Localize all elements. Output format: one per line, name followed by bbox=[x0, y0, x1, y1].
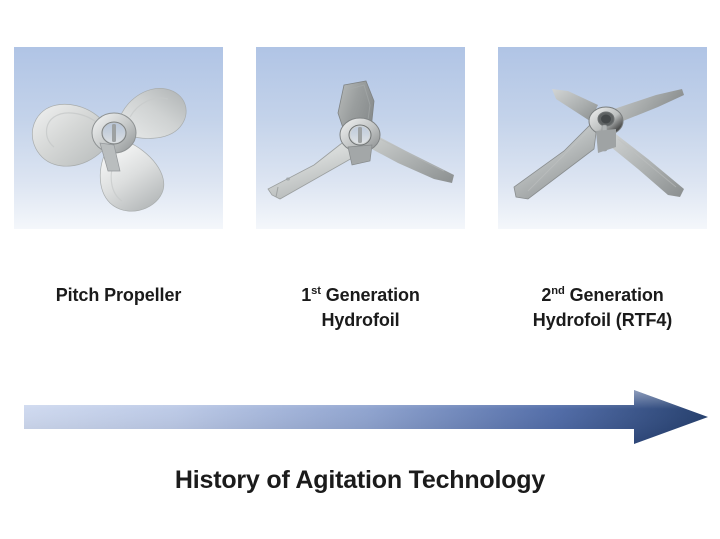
pitch-propeller-photo bbox=[14, 47, 223, 229]
caption-line-2: Hydrofoil (RTF4) bbox=[533, 310, 672, 330]
image-card-pitch-propeller bbox=[14, 47, 223, 229]
caption-ordinal-suffix: nd bbox=[551, 285, 564, 297]
caption-line-1: 2nd Generation bbox=[541, 285, 663, 305]
first-generation-hydrofoil-photo bbox=[256, 47, 465, 229]
caption-text-post: Generation bbox=[565, 285, 664, 305]
caption-text-post: Generation bbox=[321, 285, 420, 305]
caption-text-pre: 2 bbox=[541, 285, 551, 305]
page-title: History of Agitation Technology bbox=[0, 466, 720, 495]
caption-line-2: Hydrofoil bbox=[321, 310, 399, 330]
image-card-second-generation-hydrofoil bbox=[498, 47, 707, 229]
caption-pitch-propeller: Pitch Propeller bbox=[4, 283, 233, 308]
image-card-first-generation-hydrofoil bbox=[256, 47, 465, 229]
caption-ordinal-suffix: st bbox=[311, 285, 321, 297]
slide-canvas: Pitch Propeller 1st Generation Hydrofoil… bbox=[0, 0, 720, 539]
caption-first-generation-hydrofoil: 1st Generation Hydrofoil bbox=[246, 283, 475, 333]
second-generation-hydrofoil-photo bbox=[498, 47, 707, 229]
timeline-arrow bbox=[22, 386, 710, 448]
caption-text-pre: Pitch Propeller bbox=[56, 285, 182, 305]
caption-line-1: Pitch Propeller bbox=[56, 285, 182, 305]
caption-text-pre: 1 bbox=[301, 285, 311, 305]
caption-line-1: 1st Generation bbox=[301, 285, 420, 305]
arrow-right-icon bbox=[22, 386, 710, 448]
caption-second-generation-hydrofoil: 2nd Generation Hydrofoil (RTF4) bbox=[488, 283, 717, 333]
